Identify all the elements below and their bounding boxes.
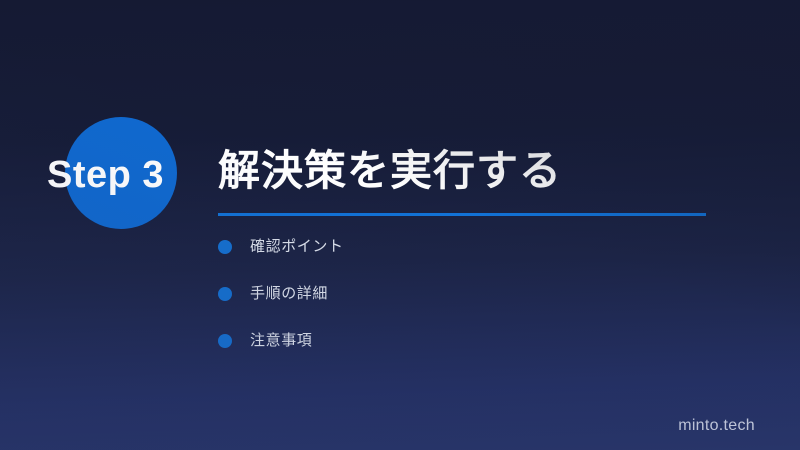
bullet-dot-icon bbox=[218, 240, 232, 254]
bullet-item-label: 手順の詳細 bbox=[250, 283, 328, 305]
bullet-list: 確認ポイント 手順の詳細 注意事項 bbox=[218, 236, 698, 377]
title-divider bbox=[218, 213, 706, 216]
footer-brand: minto.tech bbox=[678, 416, 755, 436]
bullet-dot-icon bbox=[218, 287, 232, 301]
bullet-dot-icon bbox=[218, 334, 232, 348]
slide-title: 解決策を実行する bbox=[218, 146, 562, 196]
bullet-item-label: 注意事項 bbox=[250, 330, 312, 352]
step-number-label: Step 3 bbox=[47, 152, 164, 198]
list-item: 注意事項 bbox=[218, 330, 698, 377]
bullet-item-label: 確認ポイント bbox=[250, 236, 344, 258]
list-item: 確認ポイント bbox=[218, 236, 698, 283]
list-item: 手順の詳細 bbox=[218, 283, 698, 330]
slide-canvas: Step 3 解決策を実行する 確認ポイント 手順の詳細 注意事項 minto.… bbox=[0, 0, 800, 450]
